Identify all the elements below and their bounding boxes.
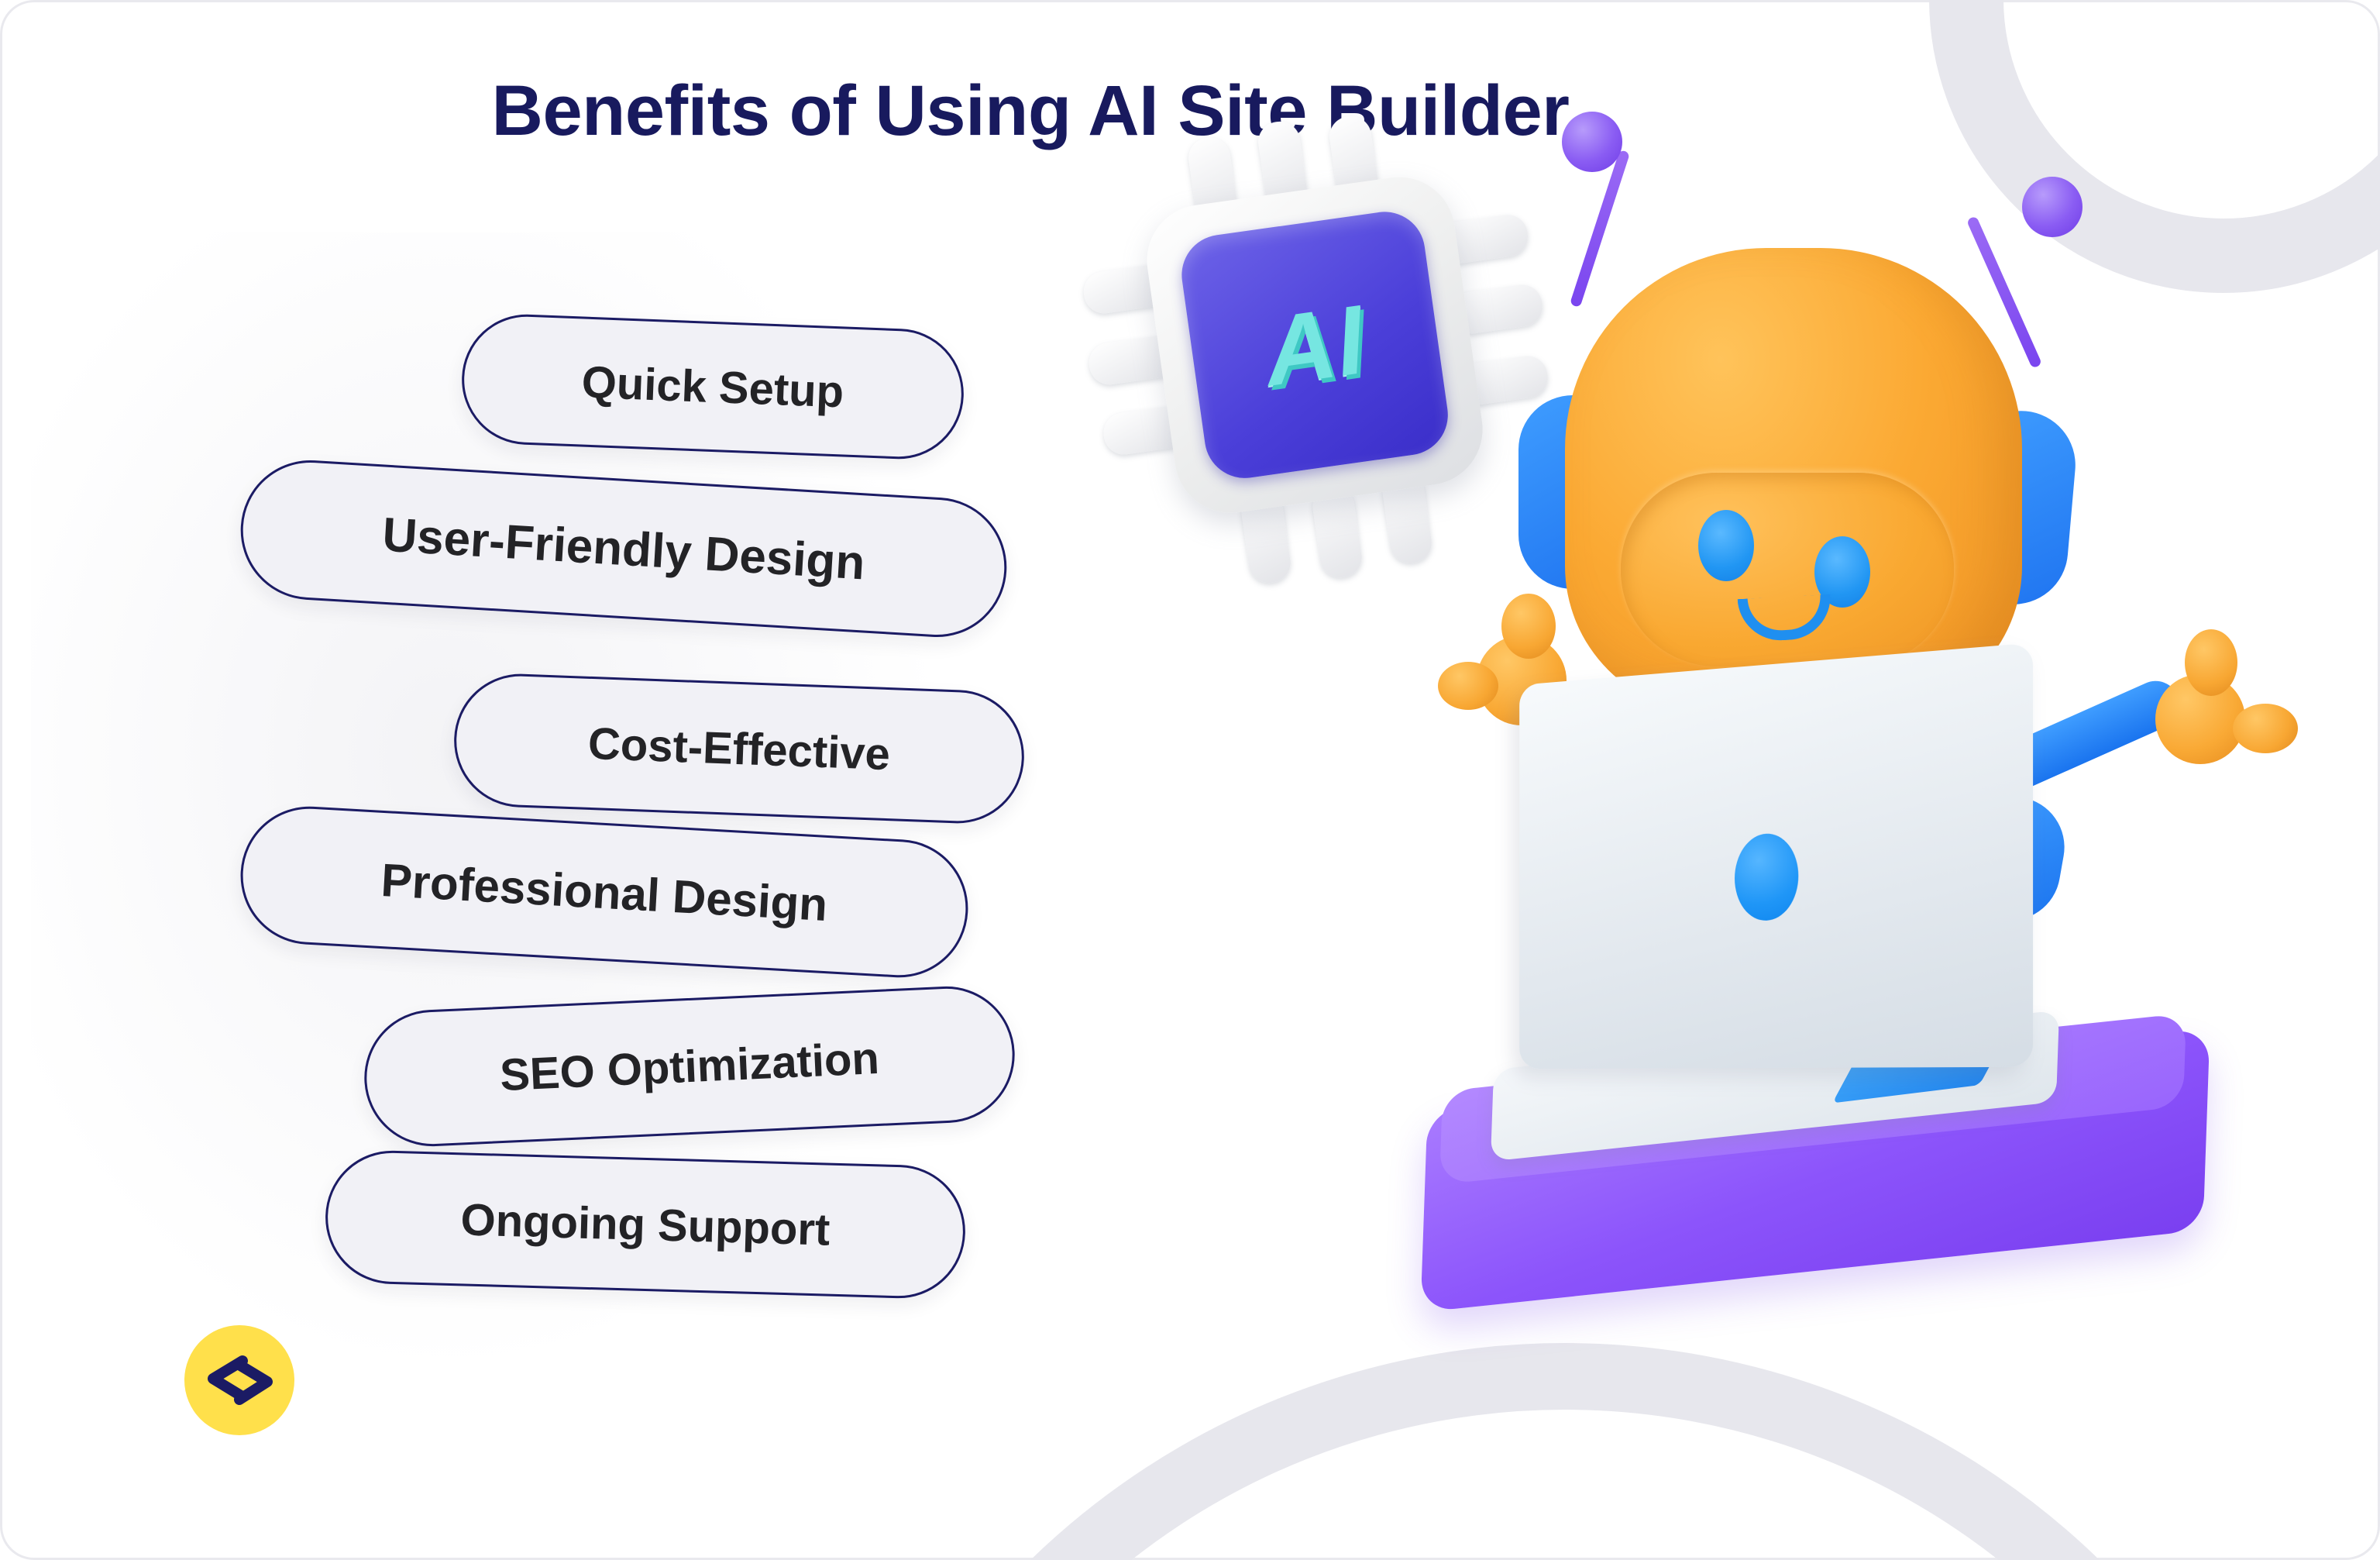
infographic-card: Benefits of Using AI Site Builder Quick … xyxy=(0,0,2380,1560)
laptop-lid xyxy=(1519,642,2033,1069)
hero-illustration: AI xyxy=(1046,93,2378,1488)
benefit-label: Cost-Effective xyxy=(587,717,891,780)
benefits-list: Quick Setup User-Friendly Design Cost-Ef… xyxy=(0,0,1085,1560)
benefit-pill-user-friendly-design[interactable]: User-Friendly Design xyxy=(237,456,1011,641)
benefit-pill-cost-effective[interactable]: Cost-Effective xyxy=(452,672,1027,826)
antenna-right-ball xyxy=(2022,177,2082,237)
robot-finger xyxy=(1438,662,1498,710)
benefit-pill-professional-design[interactable]: Professional Design xyxy=(237,803,972,981)
benefit-pill-ongoing-support[interactable]: Ongoing Support xyxy=(324,1149,967,1300)
robot-mascot xyxy=(1410,101,2324,1418)
benefit-pill-seo-optimization[interactable]: SEO Optimization xyxy=(361,983,1017,1149)
benefit-label: Ongoing Support xyxy=(460,1193,831,1255)
robot-head xyxy=(1565,248,2022,713)
robot-finger xyxy=(2233,704,2298,753)
benefit-label: Quick Setup xyxy=(581,356,845,418)
robot-smile xyxy=(1738,594,1833,642)
code-brackets-icon xyxy=(202,1353,277,1407)
antenna-left-stem xyxy=(1570,150,1630,308)
chip-ai-label: AI xyxy=(1257,282,1373,408)
benefit-label: Professional Design xyxy=(380,852,829,931)
robot-face-plate xyxy=(1621,473,1954,666)
laptop-logo-icon xyxy=(1735,832,1798,921)
benefit-label: SEO Optimization xyxy=(499,1031,880,1100)
robot-finger xyxy=(1501,594,1556,659)
brand-logo[interactable] xyxy=(184,1325,294,1435)
benefit-label: User-Friendly Design xyxy=(381,507,867,591)
robot-finger xyxy=(2185,629,2237,696)
antenna-left-ball xyxy=(1562,112,1622,172)
robot-eye-left xyxy=(1698,510,1754,581)
benefit-pill-quick-setup[interactable]: Quick Setup xyxy=(459,312,966,462)
